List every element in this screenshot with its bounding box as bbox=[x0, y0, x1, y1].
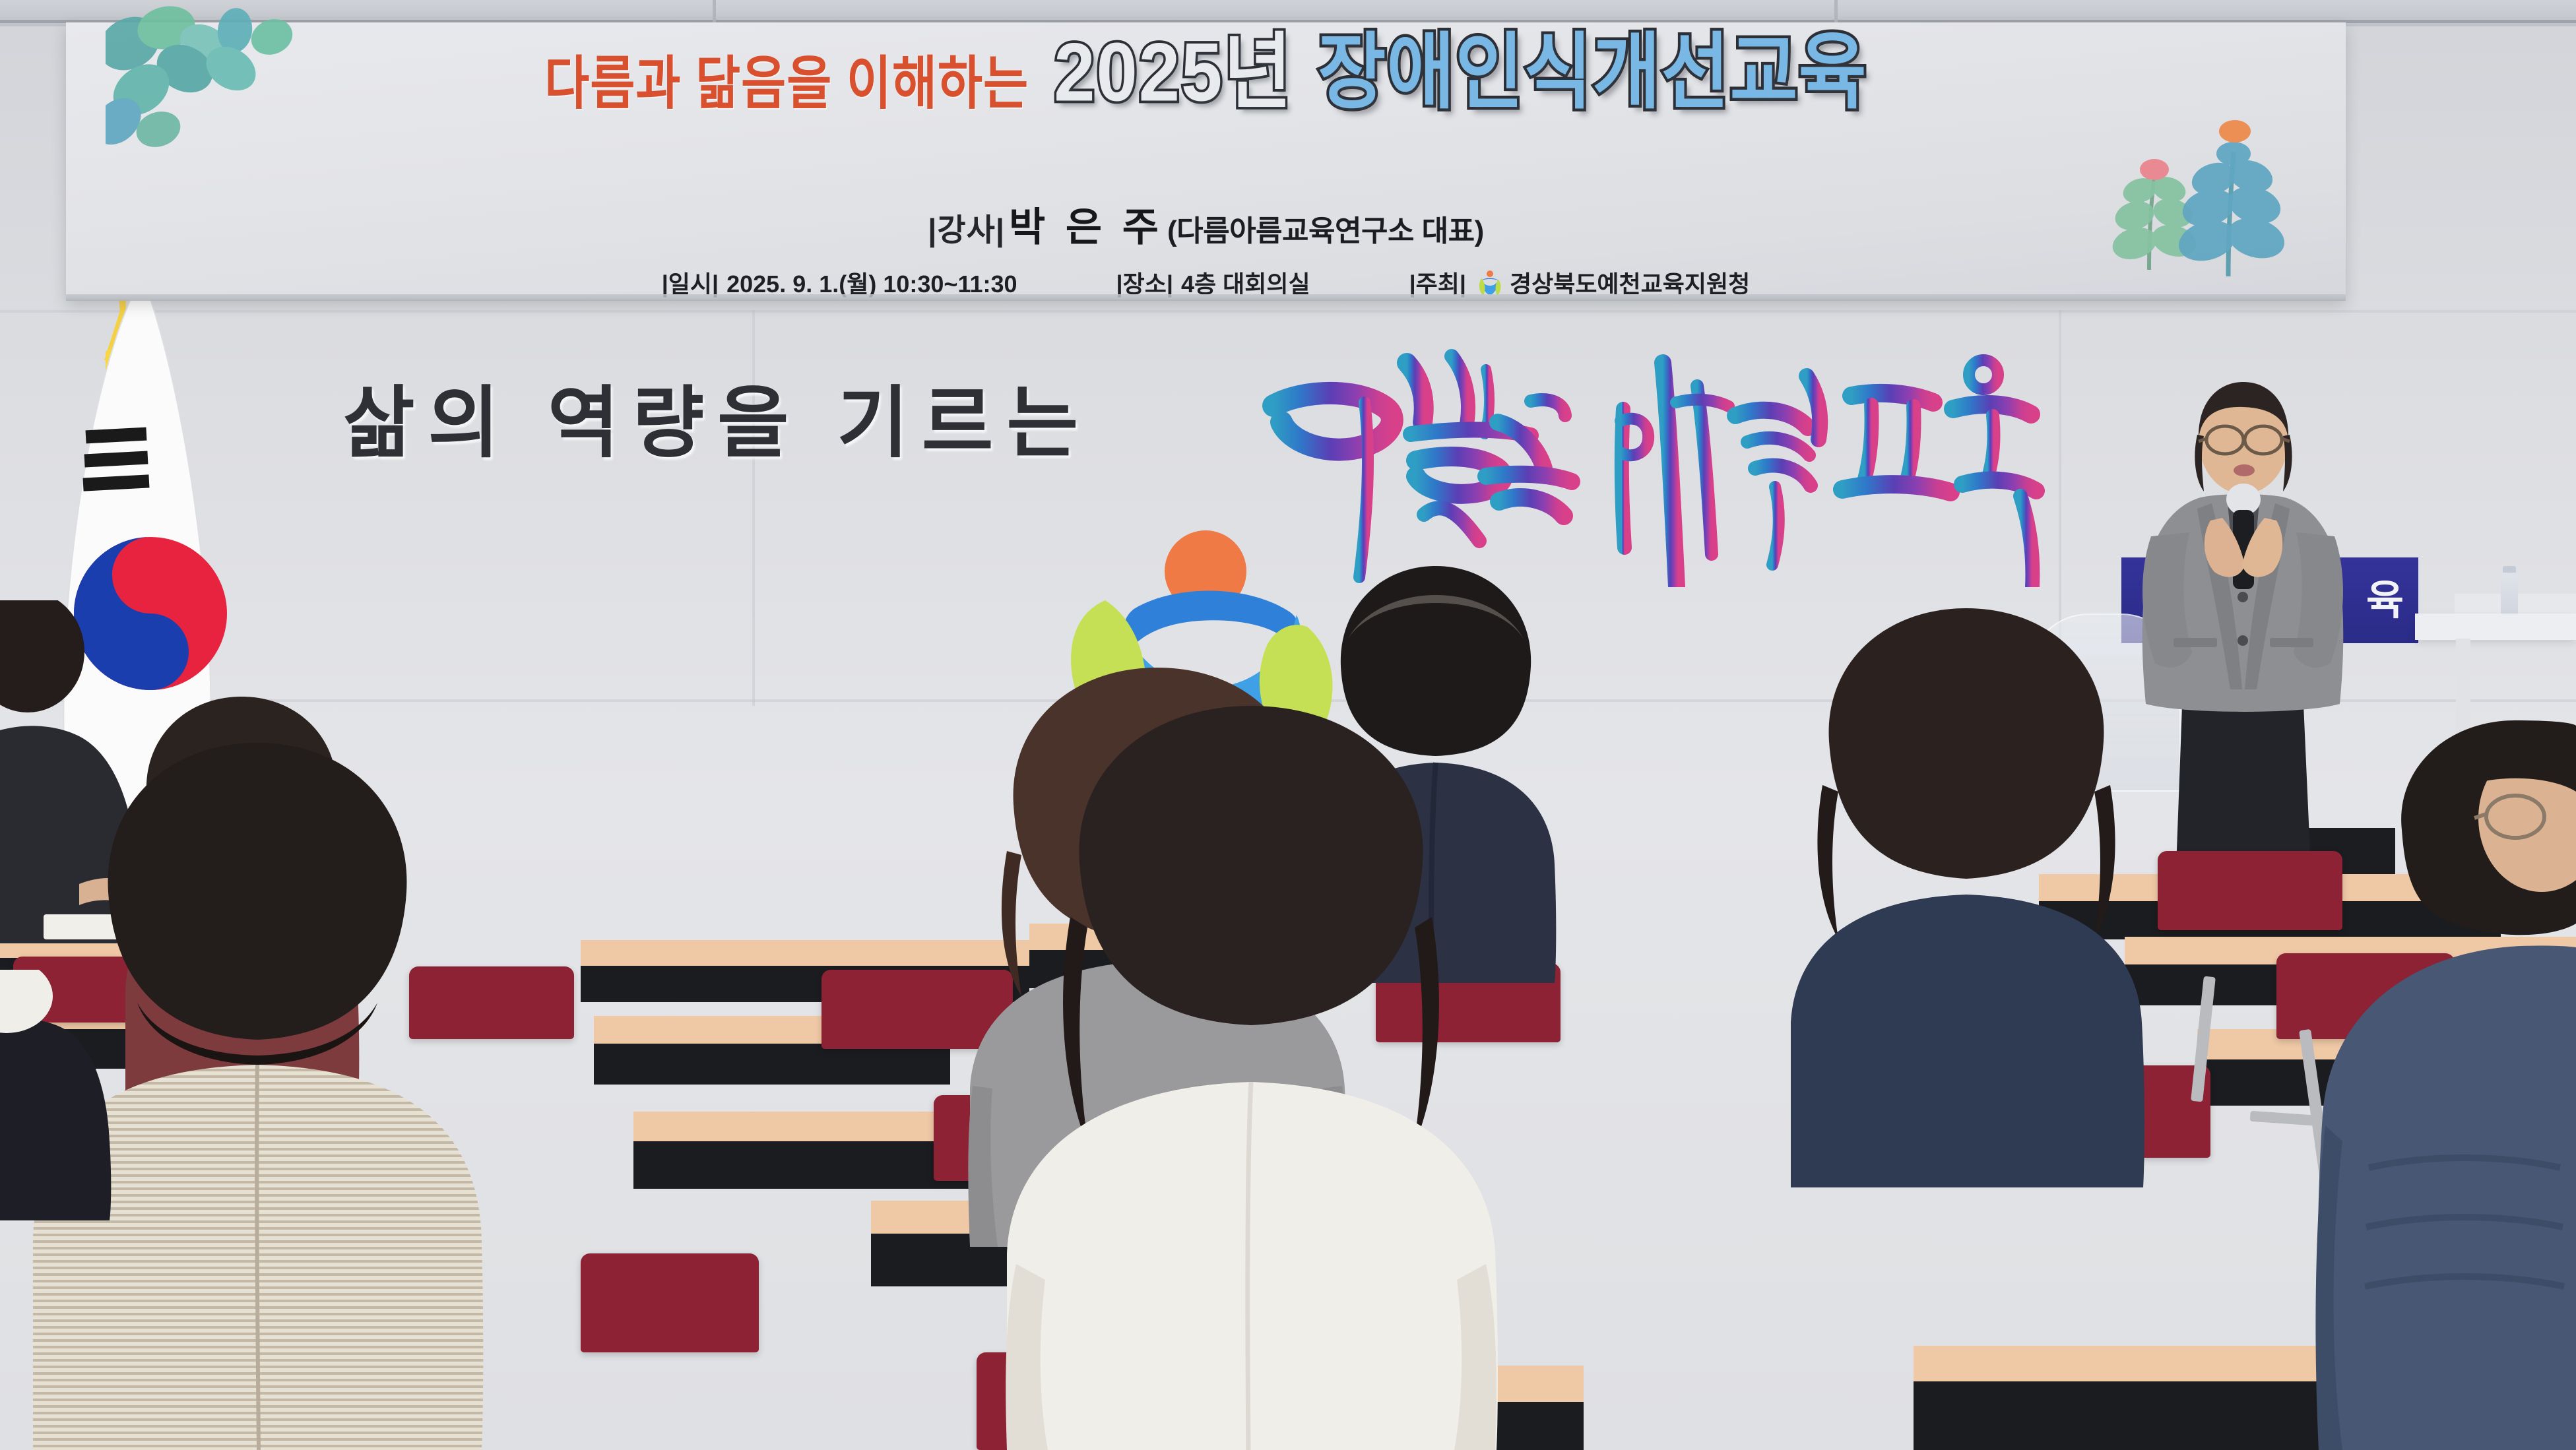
banner-year: 2025년 bbox=[1054, 34, 1293, 110]
banner-subtitle: 다름과 닮음을 이해하는 bbox=[544, 57, 1029, 110]
audience-blue-right bbox=[2283, 706, 2576, 1450]
water-bottle-icon bbox=[2501, 573, 2518, 619]
banner-bottom-edge bbox=[66, 294, 2346, 301]
chair bbox=[581, 1253, 759, 1352]
side-table bbox=[2415, 614, 2576, 640]
lecture-room-photo: 삶의 역량을 기르는 bbox=[0, 0, 2576, 1450]
audience-navy-woman bbox=[1768, 594, 2164, 1187]
banner-speaker-row: |강사| 박 은 주 (다름아름교육연구소 대표) bbox=[66, 195, 2346, 253]
speaker-tag: |강사| bbox=[928, 205, 1005, 250]
speaker-affiliation: (다름아름교육연구소 대표) bbox=[1167, 207, 1484, 249]
desk-underside bbox=[594, 1044, 950, 1085]
event-banner: 다름과 닮음을 이해하는 2025년 장애인식개선교육 |강사| 박 은 주 (… bbox=[66, 22, 2346, 299]
wall-seam-horizontal bbox=[0, 310, 2576, 313]
banner-title: 장애인식개선교육 bbox=[1318, 34, 1867, 110]
speaker-name: 박 은 주 bbox=[1009, 195, 1163, 253]
host-logo-icon bbox=[1477, 269, 1503, 296]
wall-slogan: 삶의 역량을 기르는 bbox=[343, 360, 1091, 472]
banner-headline: 다름과 닮음을 이해하는 2025년 장애인식개선교육 bbox=[66, 42, 2346, 110]
audience-left-dark bbox=[0, 970, 119, 1220]
audience-white-blouse bbox=[990, 686, 1518, 1450]
